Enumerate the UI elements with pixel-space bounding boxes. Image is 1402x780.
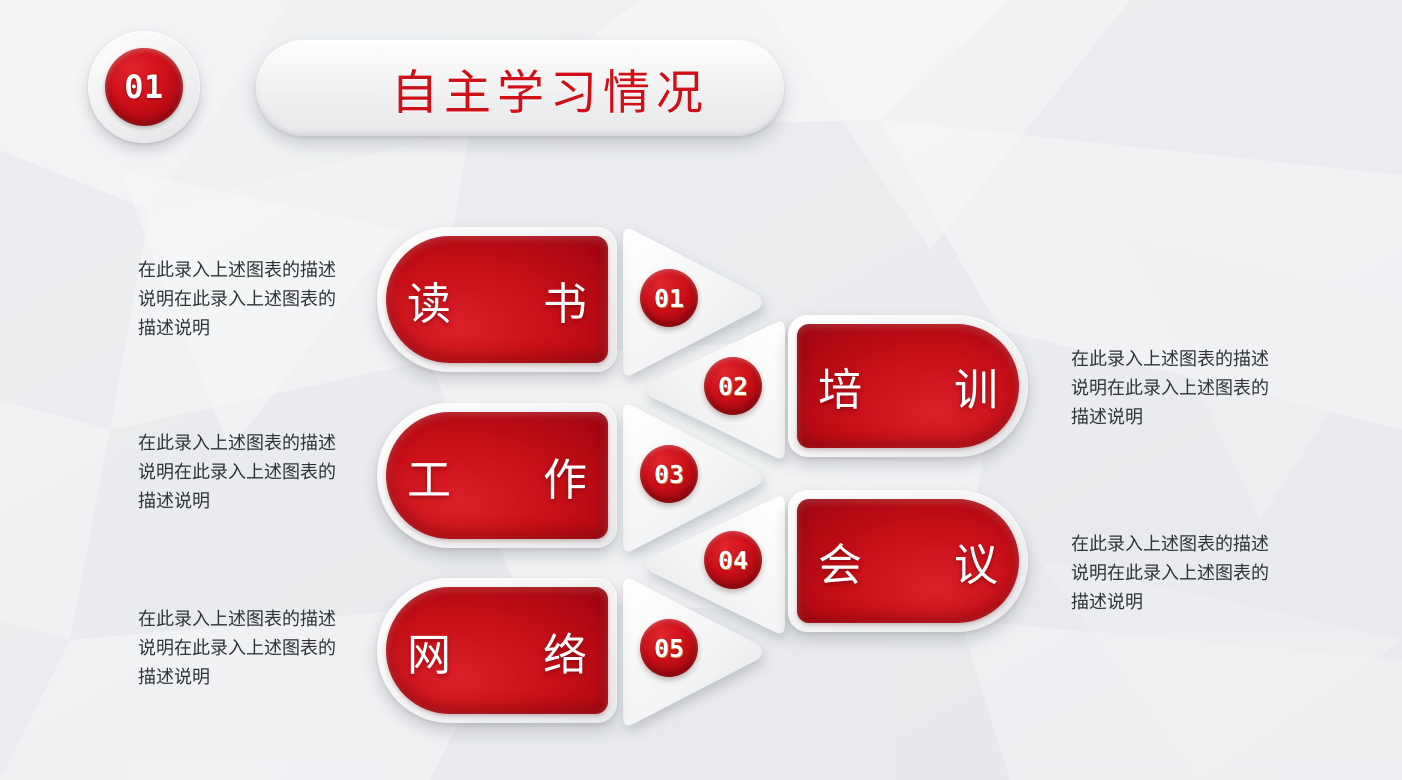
capsule-item-04-label: 会 议	[794, 529, 1022, 593]
capsule-item-01[interactable]: 读 书	[377, 227, 617, 372]
step-chip-03-text: 03	[654, 460, 684, 489]
capsule-item-01-inner: 读 书	[386, 236, 608, 363]
description-item-05: 在此录入上述图表的描述说明在此录入上述图表的描述说明	[138, 605, 353, 692]
section-number-badge-inner: 01	[105, 48, 183, 126]
description-item-01: 在此录入上述图表的描述说明在此录入上述图表的描述说明	[138, 256, 353, 343]
step-chip-01[interactable]: 01	[640, 269, 698, 327]
capsule-item-04-inner: 会 议	[797, 499, 1019, 623]
capsule-item-03[interactable]: 工 作	[377, 403, 617, 548]
description-item-03: 在此录入上述图表的描述说明在此录入上述图表的描述说明	[138, 429, 353, 516]
step-chip-05-text: 05	[654, 634, 684, 663]
page-title: 自主学习情况	[331, 54, 709, 123]
step-chip-04[interactable]: 04	[704, 531, 762, 589]
description-item-04: 在此录入上述图表的描述说明在此录入上述图表的描述说明	[1071, 530, 1286, 617]
slide-header: 01 自主学习情况	[0, 0, 1402, 175]
capsule-item-01-label: 读 书	[383, 268, 611, 332]
capsule-item-02-inner: 培 训	[797, 324, 1019, 448]
capsule-item-03-inner: 工 作	[386, 412, 608, 539]
step-chip-01-text: 01	[654, 284, 684, 313]
step-chip-03[interactable]: 03	[640, 445, 698, 503]
capsule-item-02[interactable]: 培 训	[788, 315, 1028, 457]
capsule-item-02-label: 培 训	[794, 354, 1022, 418]
step-chip-02[interactable]: 02	[704, 357, 762, 415]
step-chip-05[interactable]: 05	[640, 619, 698, 677]
step-chip-02-text: 02	[718, 372, 748, 401]
slide-title-pill: 自主学习情况	[256, 40, 784, 136]
capsule-item-05-label: 网 络	[383, 619, 611, 683]
description-item-02: 在此录入上述图表的描述说明在此录入上述图表的描述说明	[1071, 345, 1286, 432]
capsule-item-03-label: 工 作	[383, 444, 611, 508]
capsule-item-04[interactable]: 会 议	[788, 490, 1028, 632]
capsule-item-05-inner: 网 络	[386, 587, 608, 714]
step-chip-04-text: 04	[718, 546, 748, 575]
capsule-item-05[interactable]: 网 络	[377, 578, 617, 723]
section-number-text: 01	[124, 68, 164, 106]
section-number-badge: 01	[88, 31, 200, 143]
